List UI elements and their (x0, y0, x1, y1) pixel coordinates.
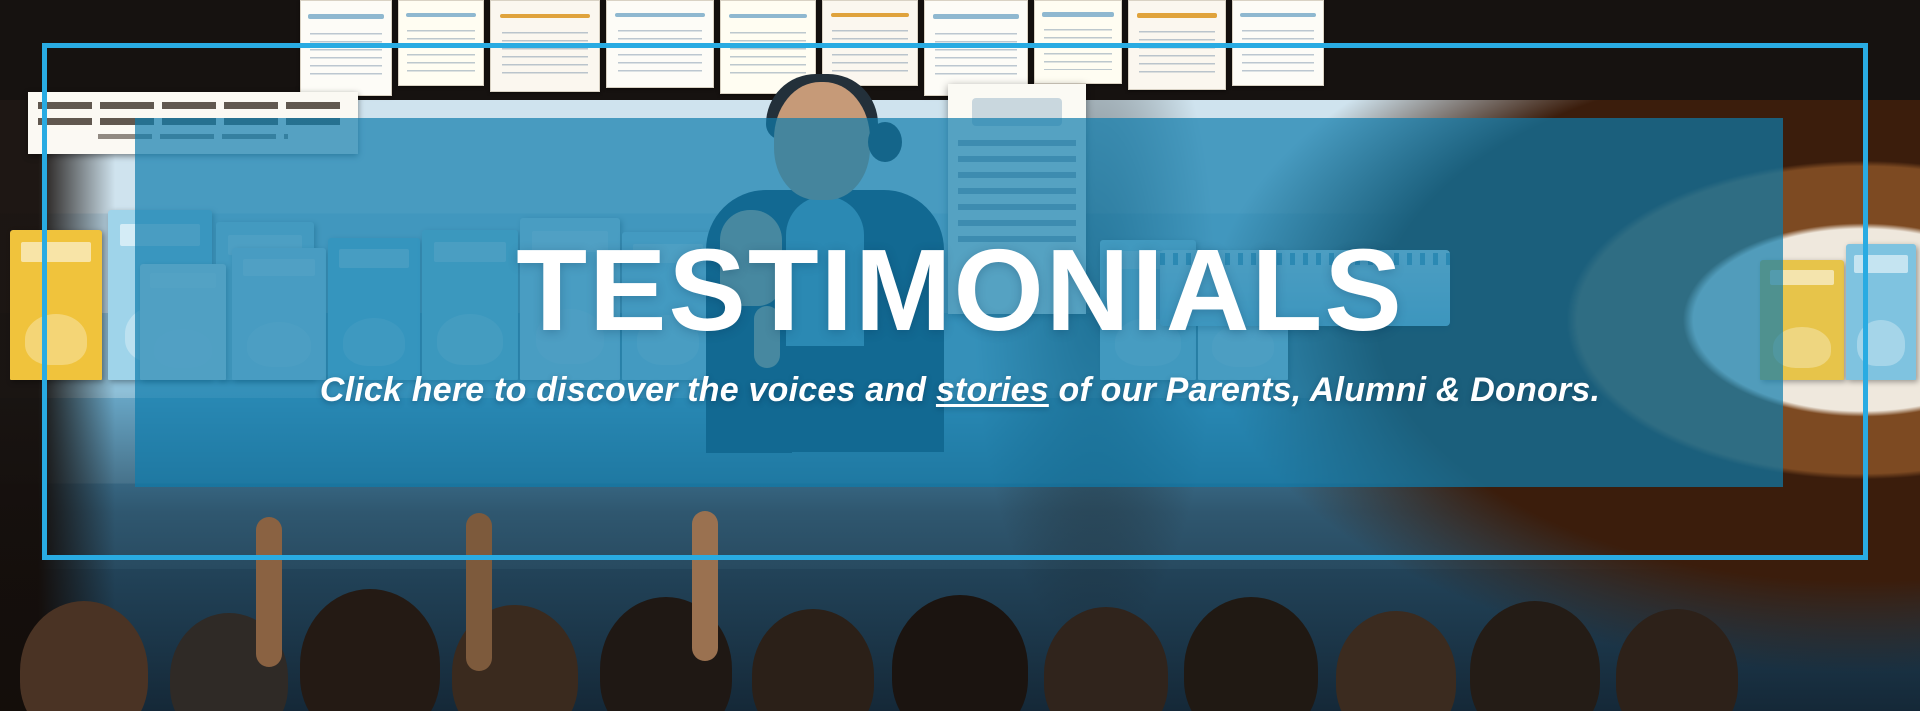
student-head (1336, 611, 1456, 711)
student-head (892, 595, 1028, 711)
student-artwork-paper (606, 0, 714, 88)
student-head (1616, 609, 1738, 711)
student-head (752, 609, 874, 711)
student-artwork-paper (490, 0, 600, 92)
subtitle-underlined-word: stories (936, 371, 1049, 409)
student-artwork-paper (1034, 0, 1122, 84)
subtitle-text-before: Click here to discover the voices and (320, 371, 936, 409)
banner-subtitle[interactable]: Click here to discover the voices and st… (0, 370, 1920, 411)
student-head (452, 605, 578, 711)
page-title: TESTIMONIALS (0, 232, 1920, 348)
banner-text-block: TESTIMONIALS Click here to discover the … (0, 232, 1920, 411)
student-artwork-paper (1128, 0, 1226, 90)
student-head (600, 597, 732, 711)
student-head (1044, 607, 1168, 711)
student-head (1470, 601, 1600, 711)
student-head (300, 589, 440, 711)
student-artwork-paper (1232, 0, 1324, 86)
foreground-students-row (0, 451, 1920, 711)
student-artwork-paper (300, 0, 392, 96)
student-artwork-paper (822, 0, 918, 86)
testimonials-hero-banner[interactable]: TESTIMONIALS Click here to discover the … (0, 0, 1920, 711)
student-head (20, 601, 148, 711)
student-head (1184, 597, 1318, 711)
subtitle-text-after: of our Parents, Alumni & Donors. (1049, 371, 1600, 409)
student-artwork-paper (398, 0, 484, 86)
student-head (170, 613, 288, 711)
